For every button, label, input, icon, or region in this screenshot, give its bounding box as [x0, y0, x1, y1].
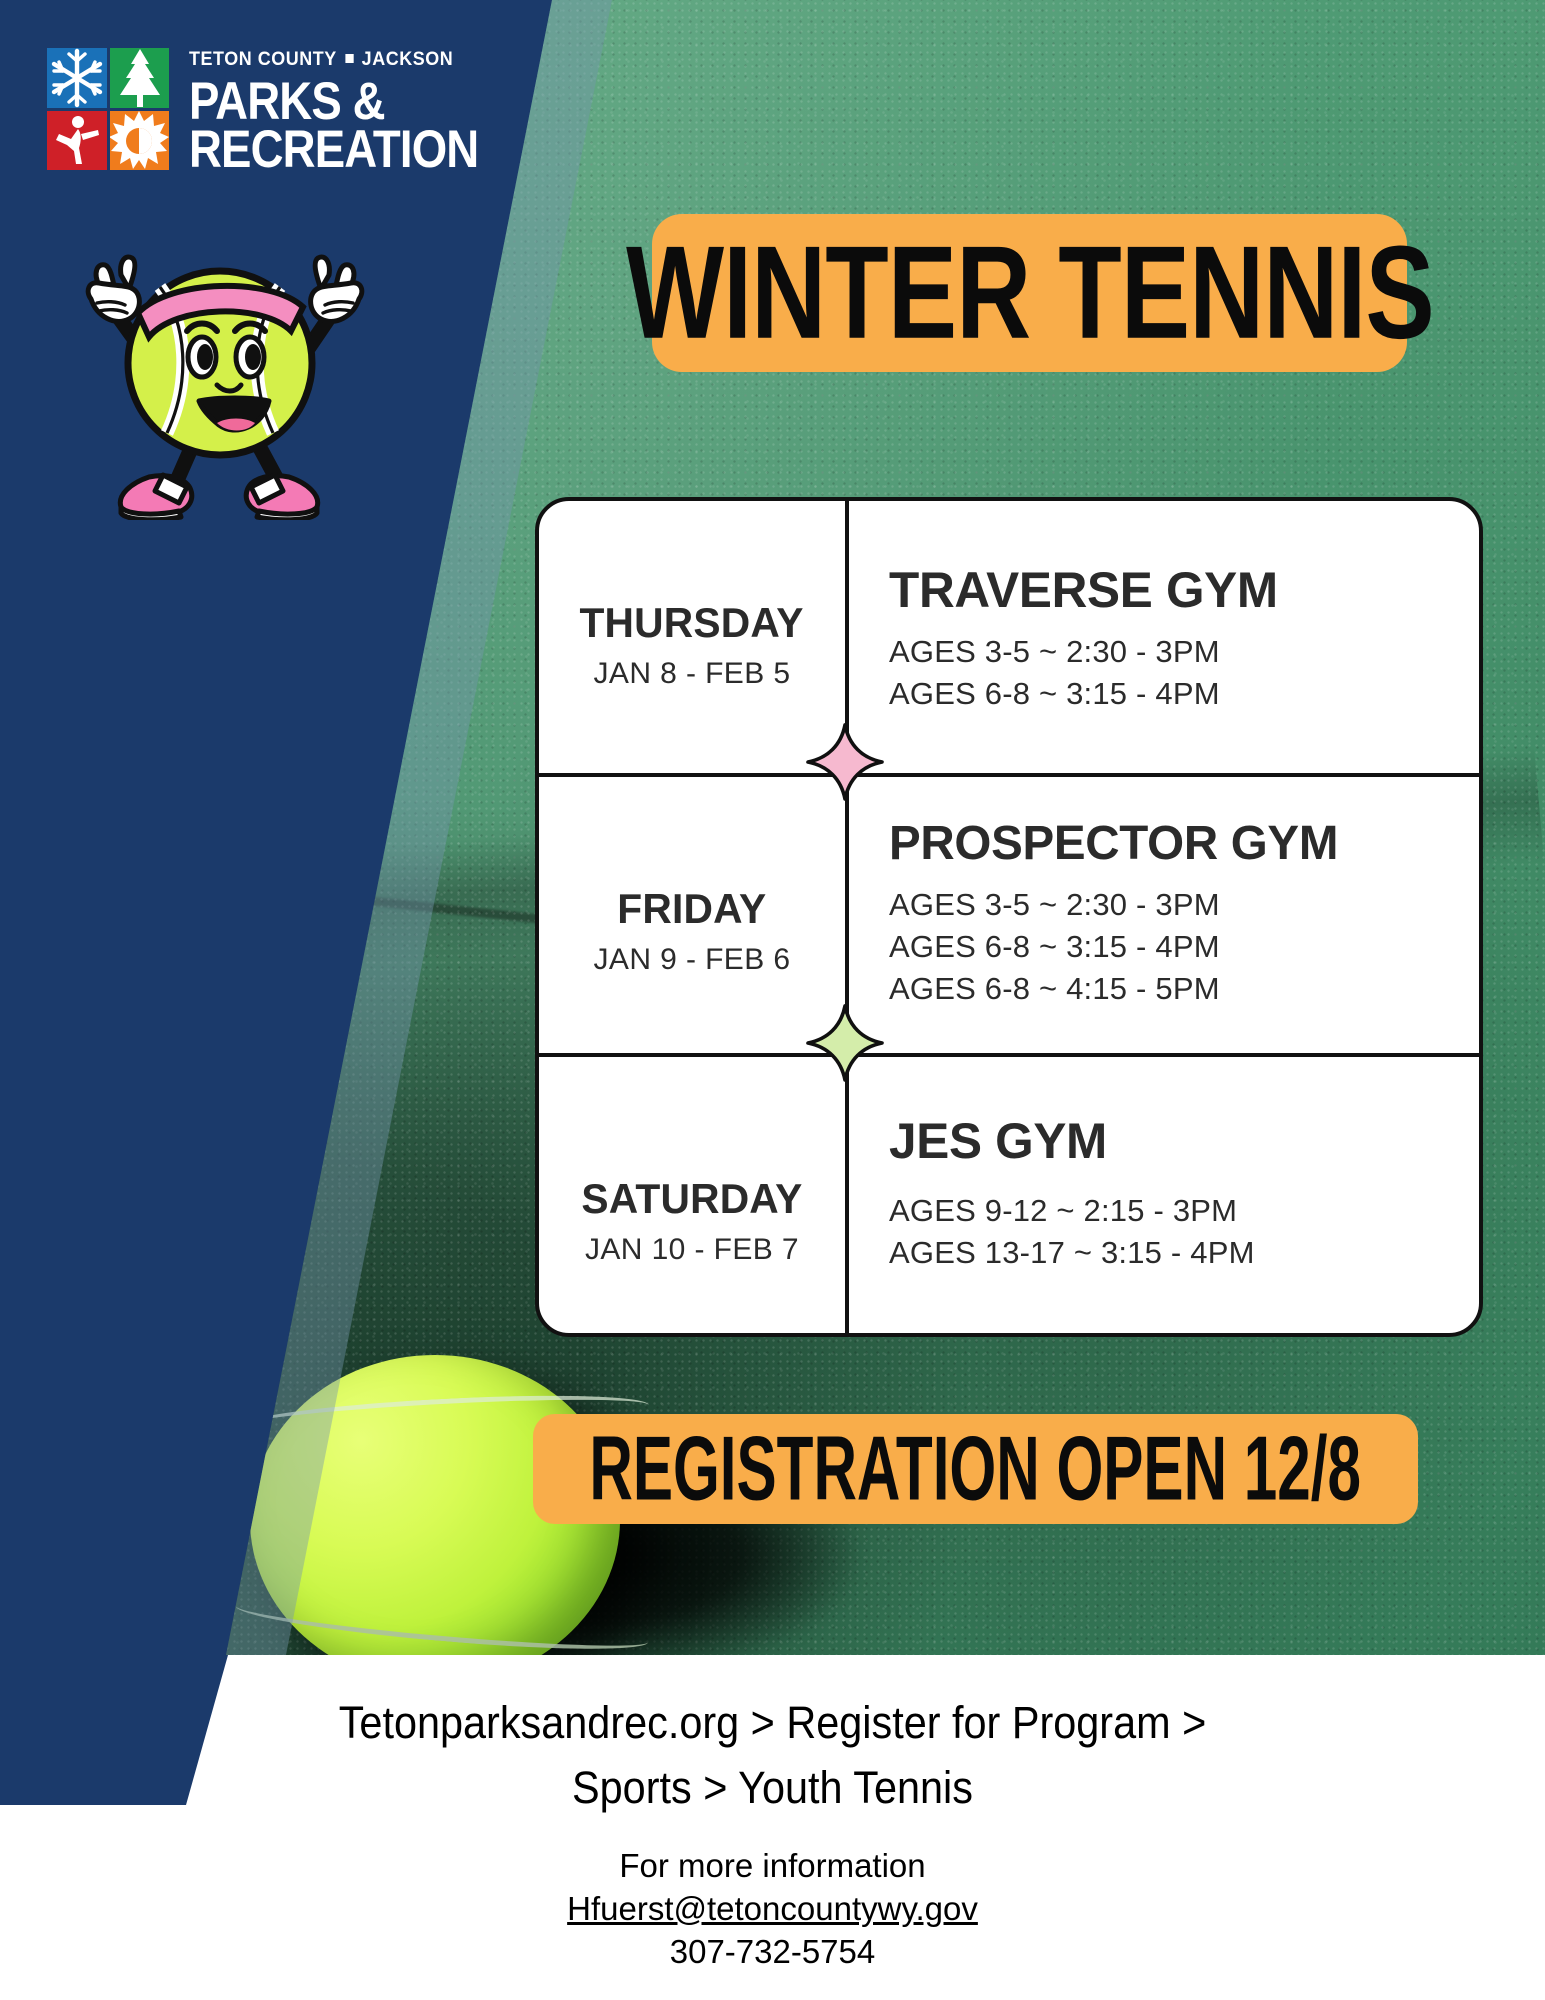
logo-kicker: TETON COUNTYJACKSON: [189, 50, 456, 70]
schedule-session: AGES 6-8 ~ 4:15 - 5PM: [889, 968, 1479, 1010]
schedule-day-name: FRIDAY: [617, 888, 766, 930]
registration-path-line2: Sports > Youth Tennis: [62, 1755, 1483, 1820]
mascot-hand-left: [88, 257, 139, 321]
logo-kicker-left: TETON COUNTY: [189, 48, 337, 70]
registration-banner: REGISTRATION OPEN 12/8: [533, 1414, 1418, 1524]
schedule-session: AGES 6-8 ~ 3:15 - 4PM: [889, 673, 1479, 715]
logo-divider-square: [345, 54, 353, 63]
pine-tree-icon: [116, 48, 164, 108]
schedule-card: THURSDAY JAN 8 - FEB 5 TRAVERSE GYM AGES…: [535, 497, 1483, 1337]
sparkle-star-green: [806, 1004, 884, 1082]
schedule-gym-name: JES GYM: [889, 1116, 1473, 1166]
schedule-row: THURSDAY JAN 8 - FEB 5 TRAVERSE GYM AGES…: [539, 501, 1479, 773]
schedule-session: AGES 6-8 ~ 3:15 - 4PM: [889, 926, 1479, 968]
registration-path: Tetonparksandrec.org > Register for Prog…: [62, 1690, 1483, 1821]
page-title: WINTER TENNIS: [626, 227, 1434, 359]
schedule-session: AGES 3-5 ~ 2:30 - 3PM: [889, 631, 1479, 673]
winter-tennis-flyer: TETON COUNTYJACKSON PARKS & RECREATION: [0, 0, 1545, 2000]
schedule-day-cell: FRIDAY JAN 9 - FEB 6: [539, 777, 849, 1053]
schedule-gym-name: PROSPECTOR GYM: [889, 820, 1473, 868]
logo-kicker-right: JACKSON: [362, 48, 454, 70]
schedule-gym-cell: TRAVERSE GYM AGES 3-5 ~ 2:30 - 3PM AGES …: [849, 501, 1479, 773]
logo-line-parks: PARKS &: [189, 78, 438, 127]
schedule-day-dates: JAN 10 - FEB 7: [585, 1233, 799, 1267]
mascot-shoe-right: [246, 475, 317, 520]
logo-square-fall-sun: [110, 111, 170, 171]
schedule-session-list: AGES 3-5 ~ 2:30 - 3PM AGES 6-8 ~ 3:15 - …: [889, 884, 1479, 1010]
title-banner: WINTER TENNIS: [652, 214, 1407, 372]
schedule-day-cell: THURSDAY JAN 8 - FEB 5: [539, 501, 849, 773]
snowflake-icon: [47, 48, 107, 108]
schedule-gym-cell: JES GYM AGES 9-12 ~ 2:15 - 3PM AGES 13-1…: [849, 1057, 1479, 1333]
mascot-shoe-left: [120, 475, 191, 520]
logo-square-spring-skier: [47, 111, 107, 171]
schedule-day-dates: JAN 8 - FEB 5: [594, 657, 791, 691]
schedule-day-dates: JAN 9 - FEB 6: [594, 943, 791, 977]
sparkle-star-pink: [806, 723, 884, 801]
schedule-row: FRIDAY JAN 9 - FEB 6 PROSPECTOR GYM AGES…: [539, 773, 1479, 1053]
logo-square-summer-trees: [110, 48, 170, 108]
schedule-session: AGES 3-5 ~ 2:30 - 3PM: [889, 884, 1479, 926]
logo-square-winter: [47, 48, 107, 108]
schedule-session-list: AGES 3-5 ~ 2:30 - 3PM AGES 6-8 ~ 3:15 - …: [889, 631, 1479, 715]
schedule-gym-cell: PROSPECTOR GYM AGES 3-5 ~ 2:30 - 3PM AGE…: [849, 777, 1479, 1053]
contact-info: For more information Hfuerst@tetoncounty…: [0, 1845, 1545, 1974]
parks-and-rec-logo: TETON COUNTYJACKSON PARKS & RECREATION: [47, 48, 477, 188]
logo-line-recreation: RECREATION: [189, 126, 438, 175]
schedule-session: AGES 9-12 ~ 2:15 - 3PM: [889, 1190, 1479, 1232]
sun-icon: [110, 111, 170, 171]
schedule-session: AGES 13-17 ~ 3:15 - 4PM: [889, 1232, 1479, 1274]
tennis-ball-mascot: [75, 245, 365, 520]
registration-text: REGISTRATION OPEN 12/8: [590, 1423, 1362, 1514]
logo-icon-grid: [47, 48, 169, 170]
skier-icon: [48, 112, 104, 170]
registration-path-line1: Tetonparksandrec.org > Register for Prog…: [62, 1690, 1483, 1755]
contact-info-label: For more information: [0, 1845, 1545, 1888]
schedule-day-name: SATURDAY: [581, 1178, 802, 1220]
contact-phone: 307-732-5754: [0, 1931, 1545, 1974]
contact-email[interactable]: Hfuerst@tetoncountywy.gov: [0, 1888, 1545, 1931]
schedule-day-name: THURSDAY: [580, 602, 804, 644]
schedule-session-list: AGES 9-12 ~ 2:15 - 3PM AGES 13-17 ~ 3:15…: [889, 1190, 1479, 1274]
schedule-row: SATURDAY JAN 10 - FEB 7 JES GYM AGES 9-1…: [539, 1053, 1479, 1333]
schedule-gym-name: TRAVERSE GYM: [889, 565, 1473, 615]
schedule-day-cell: SATURDAY JAN 10 - FEB 7: [539, 1057, 849, 1333]
mascot-hand-right: [311, 257, 362, 321]
